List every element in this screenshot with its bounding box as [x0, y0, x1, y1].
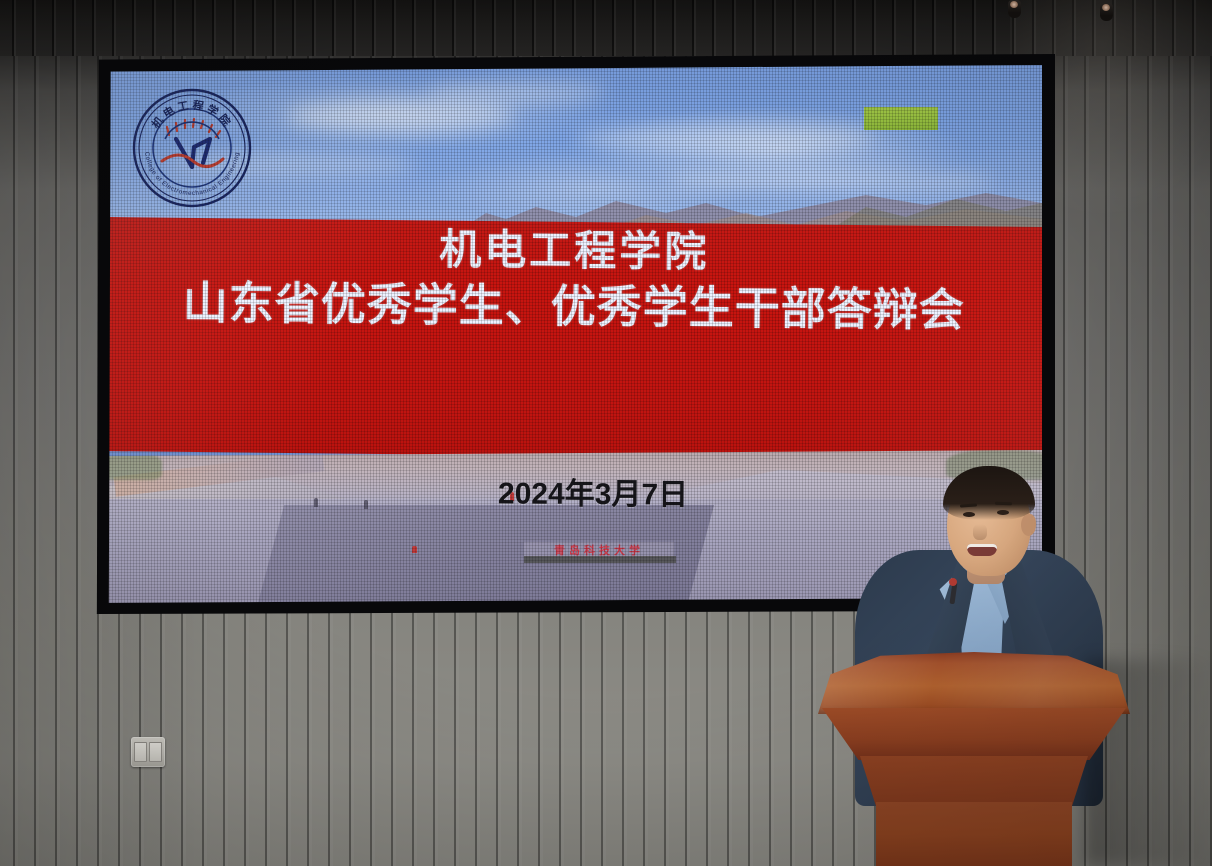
presenter-eyebrow	[995, 502, 1012, 506]
presenter-mouth	[967, 544, 997, 556]
ceiling-spotlight-icon	[1008, 0, 1021, 18]
building-sign: 青岛科技大学	[524, 542, 674, 557]
lapel-microphone-tip	[949, 578, 957, 586]
presenter-eye	[997, 510, 1009, 515]
slide-title-line2: 山东省优秀学生、优秀学生干部答辩会	[106, 276, 1042, 340]
photo-scene: 机电工程学院 山东省优秀学生、优秀学生干部答辩会 青岛科技大学	[0, 0, 1212, 866]
wooden-lectern	[818, 652, 1148, 866]
campus-person	[364, 500, 368, 509]
building-sign-shadow	[524, 556, 676, 563]
slide-title-line1: 机电工程学院	[106, 221, 1042, 281]
campus-person	[412, 546, 417, 553]
slide-title-block: 机电工程学院 山东省优秀学生、优秀学生干部答辩会	[106, 221, 1042, 340]
wall-light-switch[interactable]	[131, 737, 165, 767]
cloud-shape	[286, 99, 516, 133]
campus-greenery	[106, 452, 162, 480]
lectern-column	[876, 802, 1072, 866]
lectern-top-surface	[818, 652, 1130, 714]
ceiling-slat-texture	[0, 0, 1212, 56]
cloud-shape	[426, 81, 606, 103]
presenter-nose	[973, 524, 987, 540]
switch-rocker-left[interactable]	[134, 742, 147, 762]
cloud-shape	[576, 123, 876, 153]
svg-text:机电工程学院: 机电工程学院	[149, 98, 236, 132]
green-led-artifact	[864, 107, 938, 130]
campus-person	[314, 498, 318, 507]
presenter-ear	[1021, 514, 1036, 536]
ceiling	[0, 0, 1212, 56]
ceiling-spotlight-icon	[1100, 3, 1113, 21]
lectern-front-panel	[822, 708, 1126, 760]
presenter-hair	[943, 466, 1035, 520]
presenter-eye	[963, 512, 975, 517]
college-emblem-logo: 机电工程学院 College of Electromechanical Engi…	[131, 87, 253, 209]
slide-date: 2024年3月7日	[498, 468, 688, 513]
switch-rocker-right[interactable]	[149, 742, 162, 762]
lectern-mid-body	[860, 756, 1088, 806]
